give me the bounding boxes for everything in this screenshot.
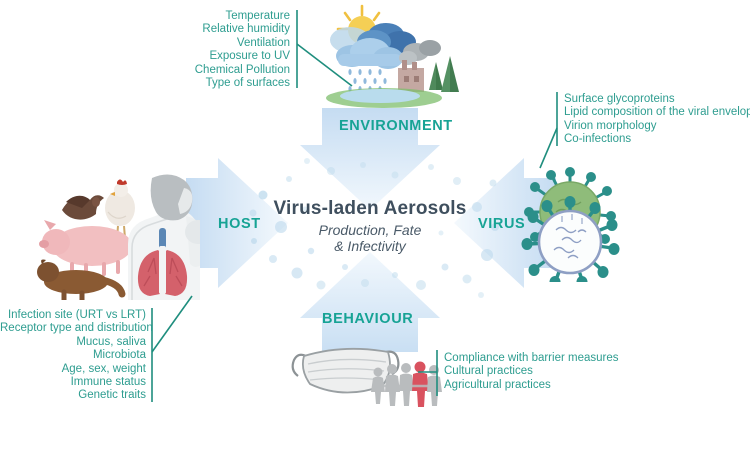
list-item: Agricultural practices (444, 379, 618, 392)
list-item: Compliance with barrier measures (444, 352, 618, 365)
list-item: Co-infections (564, 133, 750, 146)
center-subtitle-line2: & Infectivity (255, 238, 485, 254)
center-title-block: Virus-laden Aerosols Production, Fate & … (255, 198, 485, 254)
list-item: Receptor type and distribution (0, 322, 146, 335)
list-item: Virion morphology (564, 120, 750, 133)
list-item: Lipid composition of the viral envelope (564, 106, 750, 119)
virus-factor-list: Surface glycoproteins Lipid composition … (564, 93, 750, 147)
category-label-behaviour: BEHAVIOUR (322, 311, 413, 327)
diagram-canvas: ENVIRONMENT HOST VIRUS BEHAVIOUR Virus-l… (0, 0, 750, 452)
list-item: Type of surfaces (110, 77, 290, 90)
list-item: Microbiota (0, 349, 146, 362)
center-subtitle-line1: Production, Fate (255, 222, 485, 238)
category-label-environment: ENVIRONMENT (339, 118, 453, 134)
host-factor-list: Infection site (URT vs LRT) Receptor typ… (0, 309, 146, 403)
list-item: Immune status (0, 376, 146, 389)
environment-factor-list: Temperature Relative humidity Ventilatio… (110, 10, 290, 90)
list-item: Age, sex, weight (0, 363, 146, 376)
list-item: Infection site (URT vs LRT) (0, 309, 146, 322)
behaviour-factor-list: Compliance with barrier measures Cultura… (444, 352, 618, 392)
list-item: Ventilation (110, 37, 290, 50)
page-title: Virus-laden Aerosols (255, 198, 485, 220)
list-item: Chemical Pollution (110, 64, 290, 77)
list-item: Relative humidity (110, 23, 290, 36)
category-label-virus: VIRUS (478, 216, 525, 232)
list-item: Temperature (110, 10, 290, 23)
list-item: Surface glycoproteins (564, 93, 750, 106)
list-item: Cultural practices (444, 365, 618, 378)
center-subtitle: Production, Fate & Infectivity (255, 222, 485, 254)
list-item: Exposure to UV (110, 50, 290, 63)
list-item: Genetic traits (0, 389, 146, 402)
list-item: Mucus, saliva (0, 336, 146, 349)
